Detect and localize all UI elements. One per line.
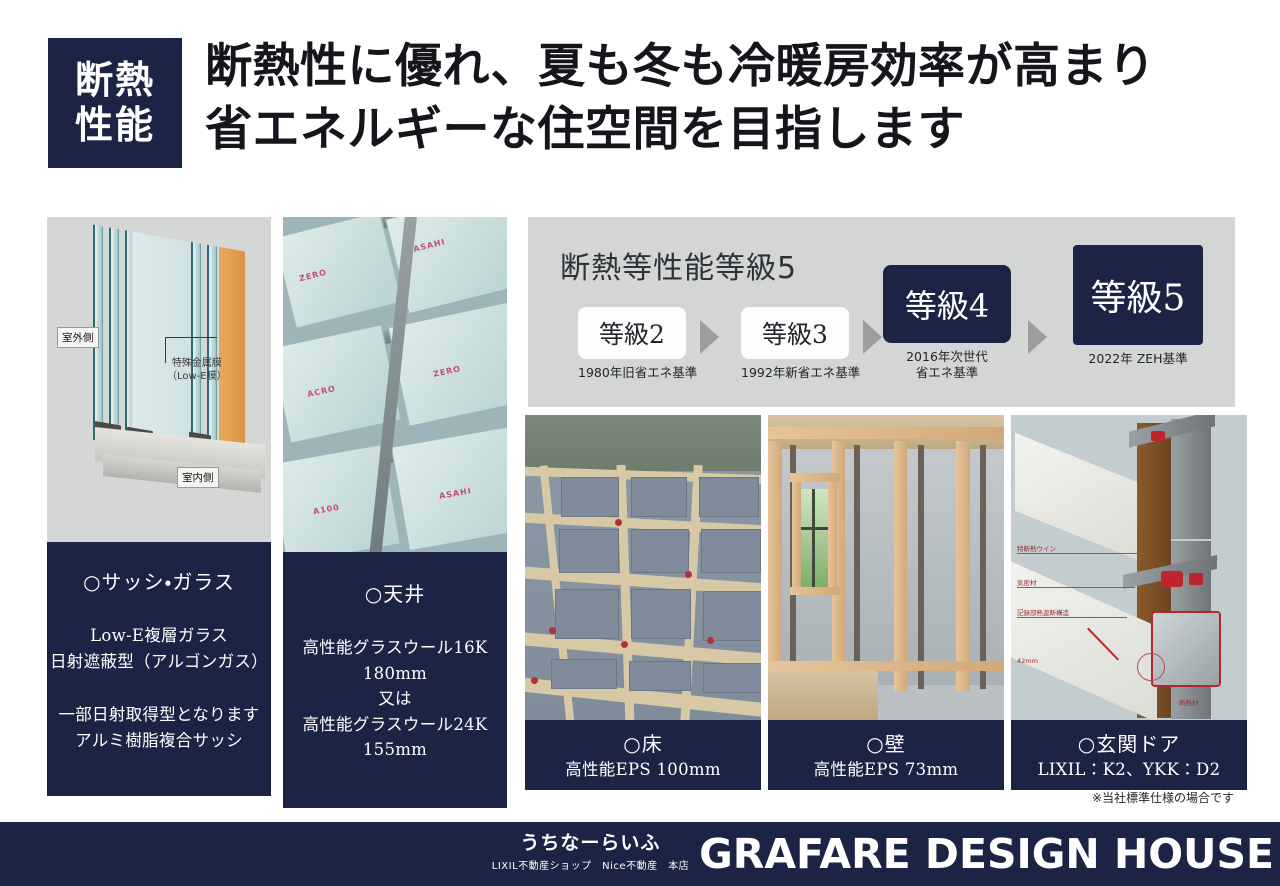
insulation-grade-panel: 断熱等性能等級5 等級2 1980年旧省エネ基準 等級3 1992年新省エネ基準…	[528, 217, 1235, 407]
card-ceiling: ZERO ASAHI ACRO ZERO A100 ASAHI ○天井 高性能グ…	[283, 217, 507, 808]
card-wall: ○壁 高性能EPS 73mm	[768, 415, 1004, 790]
door-label-1: 特断熱ウイン	[1017, 543, 1056, 553]
grade-badge-1: 等級3	[741, 307, 849, 359]
caption-ceiling-line-4: 155mm	[363, 737, 427, 763]
label-outside: 室外側	[57, 327, 99, 348]
caption-ceiling-line-1: 180mm	[363, 661, 427, 687]
label-inside: 室内側	[177, 467, 219, 488]
caption-wall-line: 高性能EPS 73mm	[814, 757, 959, 783]
uchinalife-logo: うちなーらいふ LIXIL不動産ショップ Nice不動産 本店	[492, 834, 689, 872]
section-badge-line1: 断熱	[75, 58, 155, 103]
caption-sash-title: ○サッシ・ガラス	[83, 566, 235, 595]
grade-sub-2-line2: 省エネ基準	[916, 365, 979, 380]
label-low-e-film: 特殊金属膜 （Low-E膜）	[167, 357, 227, 383]
grade-panel-title: 断熱等性能等級5	[560, 243, 797, 287]
caption-ceiling-line-2: 又は	[378, 686, 412, 712]
shop-name: LIXIL不動産ショップ Nice不動産 本店	[492, 857, 689, 872]
caption-ceiling-line-3: 高性能グラスウール24K	[302, 712, 487, 738]
caption-door-line: LIXIL：K2、YKK：D2	[1038, 757, 1221, 783]
grade-step-3: 等級5 2022年 ZEH基準	[1073, 245, 1203, 367]
window-cross-section-diagram: 室外側 特殊金属膜 （Low-E膜） 室内側	[47, 217, 271, 542]
grade-badge-2: 等級4	[883, 265, 1011, 343]
caption-ceiling-line-0: 高性能グラスウール16K	[302, 635, 487, 661]
caption-ceiling: ○天井 高性能グラスウール16K 180mm 又は 高性能グラスウール24K 1…	[283, 552, 507, 808]
caption-sash-line-1: 日射遮蔽型（アルゴンガス）	[50, 649, 268, 675]
section-badge: 断熱 性能	[48, 38, 182, 168]
label-low-e-film-line1: 特殊金属膜	[172, 358, 222, 369]
caption-floor-line: 高性能EPS 100mm	[565, 757, 721, 783]
caption-sash-line-3: 一部日射取得型となります	[58, 702, 259, 728]
caption-sash-glass: ○サッシ・ガラス Low-E複層ガラス 日射遮蔽型（アルゴンガス） 一部日射取得…	[47, 542, 271, 796]
grade-sub-2: 2016年次世代 省エネ基準	[883, 349, 1011, 382]
wall-insulation-photo	[768, 415, 1004, 720]
grade-sub-1: 1992年新省エネ基準	[741, 365, 849, 381]
card-sash-glass: 室外側 特殊金属膜 （Low-E膜） 室内側 ○サッシ・ガラス Low-E複層ガ…	[47, 217, 271, 796]
door-label-2: 気密材	[1017, 577, 1037, 587]
caption-floor: ○床 高性能EPS 100mm	[525, 720, 761, 790]
page-title: 断熱性に優れ、夏も冬も冷暖房効率が高まり 省エネルギーな住空間を目指します	[205, 36, 1245, 161]
uchinalife-logo-text: うちなーらいふ	[520, 834, 660, 853]
brand-name: GRAFARE DESIGN HOUSE	[699, 834, 1274, 875]
grade-sub-3: 2022年 ZEH基準	[1073, 351, 1203, 367]
grade-step-1: 等級3 1992年新省エネ基準	[741, 307, 849, 381]
caption-wall: ○壁 高性能EPS 73mm	[768, 720, 1004, 790]
label-low-e-film-line2: （Low-E膜）	[167, 371, 227, 382]
door-label-3: 記録部熱遮断構造	[1017, 607, 1069, 617]
door-label-5: 断熱材	[1179, 697, 1199, 707]
grade-arrow-1	[863, 320, 882, 354]
entrance-door-cutaway-diagram: 特断熱ウイン 気密材 記録部熱遮断構造 42mm 断熱材	[1011, 415, 1247, 720]
caption-ceiling-title: ○天井	[365, 578, 425, 607]
grade-step-0: 等級2 1980年旧省エネ基準	[578, 307, 686, 381]
caption-sash-line-0: Low-E複層ガラス	[90, 623, 228, 649]
grade-arrow-2	[1028, 320, 1047, 354]
door-label-4: 42mm	[1017, 657, 1038, 665]
grade-badge-3: 等級5	[1073, 245, 1203, 345]
header: 断熱 性能 断熱性に優れ、夏も冬も冷暖房効率が高まり 省エネルギーな住空間を目指…	[0, 0, 1280, 200]
floor-insulation-photo	[525, 415, 761, 720]
ceiling-insulation-photo: ZERO ASAHI ACRO ZERO A100 ASAHI	[283, 217, 507, 552]
caption-door-title: ○玄関ドア	[1078, 728, 1180, 757]
standard-spec-note: ※当社標準仕様の場合です	[1092, 789, 1234, 806]
grade-sub-2-line1: 2016年次世代	[906, 349, 988, 364]
page-title-line2: 省エネルギーな住空間を目指します	[205, 99, 1245, 162]
caption-entrance-door: ○玄関ドア LIXIL：K2、YKK：D2	[1011, 720, 1247, 790]
section-badge-line2: 性能	[75, 103, 155, 148]
card-floor: ○床 高性能EPS 100mm	[525, 415, 761, 790]
caption-wall-title: ○壁	[866, 728, 905, 757]
poster-root: 断熱 性能 断熱性に優れ、夏も冬も冷暖房効率が高まり 省エネルギーな住空間を目指…	[0, 0, 1280, 886]
page-title-line1: 断熱性に優れ、夏も冬も冷暖房効率が高まり	[205, 36, 1245, 99]
caption-floor-title: ○床	[623, 728, 662, 757]
caption-sash-line-4: アルミ樹脂複合サッシ	[75, 728, 243, 754]
footer: うちなーらいふ LIXIL不動産ショップ Nice不動産 本店 GRAFARE …	[0, 822, 1280, 886]
grade-step-2: 等級4 2016年次世代 省エネ基準	[883, 265, 1011, 382]
grade-sub-0: 1980年旧省エネ基準	[578, 365, 686, 381]
grade-badge-0: 等級2	[578, 307, 686, 359]
card-entrance-door: 特断熱ウイン 気密材 記録部熱遮断構造 42mm 断熱材 ○玄関ドア LIXIL…	[1011, 415, 1247, 790]
grade-arrow-0	[700, 320, 719, 354]
